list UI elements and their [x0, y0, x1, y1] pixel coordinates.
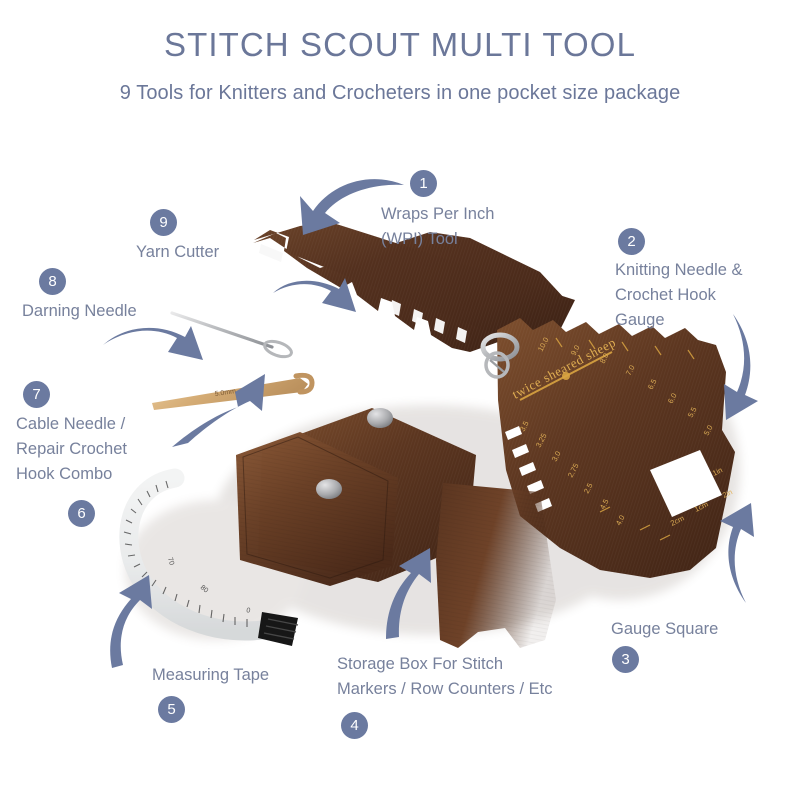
- page-subtitle: 9 Tools for Knitters and Crocheters in o…: [0, 82, 800, 105]
- callout-badge-6: 6: [68, 500, 95, 527]
- page-title: STITCH SCOUT MULTI TOOL: [0, 26, 800, 64]
- callout-label-9: Yarn Cutter: [136, 240, 219, 265]
- darning-needle: [172, 313, 293, 360]
- infographic-canvas: twice sheared sheep 10.0 9.0 8.0 7.0 6.5…: [0, 0, 800, 800]
- callout-badge-7: 7: [23, 381, 50, 408]
- callout-label-8: Darning Needle: [22, 299, 137, 324]
- callout-badge-4: 4: [341, 712, 368, 739]
- magnet-lower: [316, 479, 342, 499]
- callout-badge-1: 1: [410, 170, 437, 197]
- cable-needle-hook: 5.0mm: [152, 375, 312, 410]
- tape-end-clip: [258, 612, 298, 646]
- callout-label-5: Measuring Tape: [152, 663, 269, 688]
- magnet-upper: [367, 408, 393, 428]
- callout-label-3: Gauge Square: [611, 617, 718, 642]
- callout-badge-8: 8: [39, 268, 66, 295]
- callout-label-4: Storage Box For Stitch Markers / Row Cou…: [337, 652, 552, 702]
- callout-badge-9: 9: [150, 209, 177, 236]
- callout-label-2: Knitting Needle & Crochet Hook Gauge: [615, 258, 743, 333]
- storage-box-front-panel: [436, 483, 556, 648]
- callout-badge-5: 5: [158, 696, 185, 723]
- callout-badge-2: 2: [618, 228, 645, 255]
- callout-badge-3: 3: [612, 646, 639, 673]
- callout-label-7: Cable Needle / Repair Crochet Hook Combo: [16, 412, 127, 487]
- callout-label-1: Wraps Per Inch (WPI) Tool: [381, 202, 494, 252]
